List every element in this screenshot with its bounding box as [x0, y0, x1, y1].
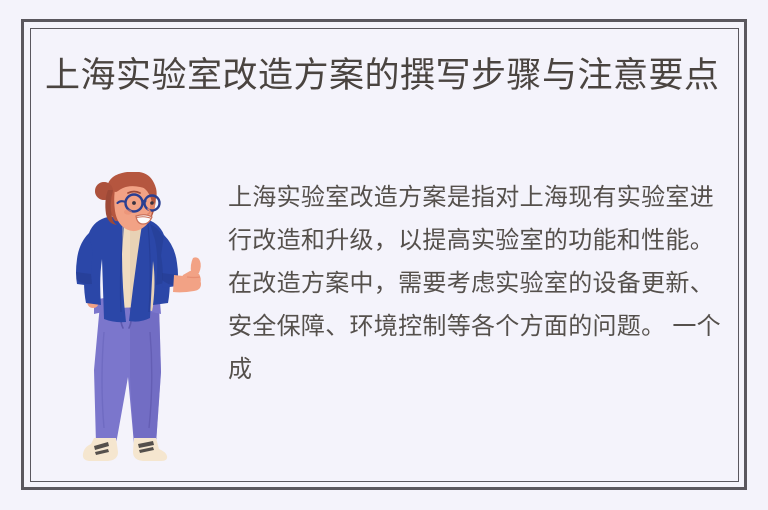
article-body: 上海实验室改造方案是指对上海现有实验室进行改造和升级，以提高实验室的功能和性能。… — [228, 176, 734, 391]
page-title: 上海实验室改造方案的撰写步骤与注意要点 — [45, 52, 745, 100]
article-content: 上海实验室改造方案的撰写步骤与注意要点 — [0, 0, 768, 510]
page-root: 上海实验室改造方案的撰写步骤与注意要点 — [0, 0, 768, 510]
person-thumbs-up-illustration — [64, 172, 214, 477]
